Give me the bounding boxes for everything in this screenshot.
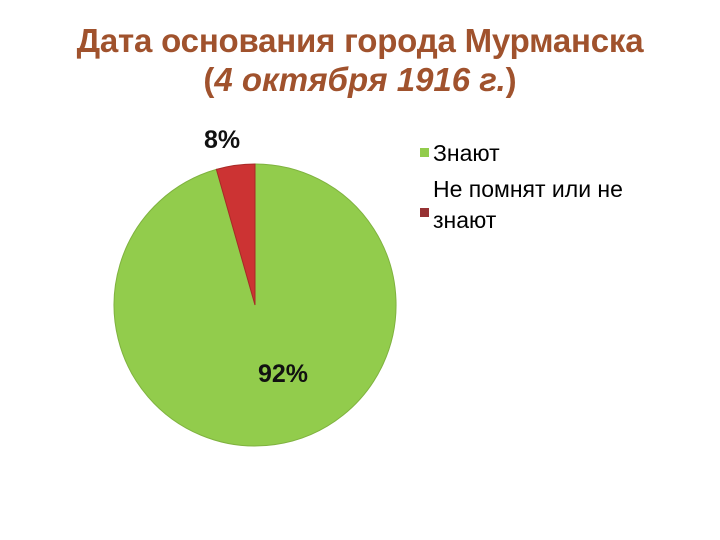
legend-item-znayut[interactable]: Знают: [420, 138, 690, 168]
title-date-text: 4 октября 1916 г.: [214, 61, 505, 98]
pie-chart-svg: [100, 120, 430, 460]
pie-chart: 8% 92%: [100, 120, 430, 460]
title-line-primary: Дата основания города Мурманска: [0, 24, 720, 59]
title-close-paren: ): [506, 61, 517, 98]
legend-swatch-icon-ne-pomnyat: [420, 208, 429, 217]
slide-canvas: Дата основания города Мурманска (4 октяб…: [0, 0, 720, 540]
data-label-red-slice: 8%: [204, 126, 240, 155]
page-title: Дата основания города Мурманска (4 октяб…: [0, 24, 720, 98]
legend-item-ne-pomnyat[interactable]: Не помнят или не знают: [420, 174, 690, 235]
title-line-secondary: (4 октября 1916 г.): [0, 63, 720, 98]
title-open-paren: (: [203, 61, 214, 98]
chart-legend: Знают Не помнят или не знают: [420, 138, 690, 241]
legend-label-znayut: Знают: [433, 138, 500, 168]
data-label-green-slice: 92%: [258, 360, 308, 389]
legend-label-ne-pomnyat: Не помнят или не знают: [433, 174, 663, 235]
legend-swatch-icon-znayut: [420, 148, 429, 157]
